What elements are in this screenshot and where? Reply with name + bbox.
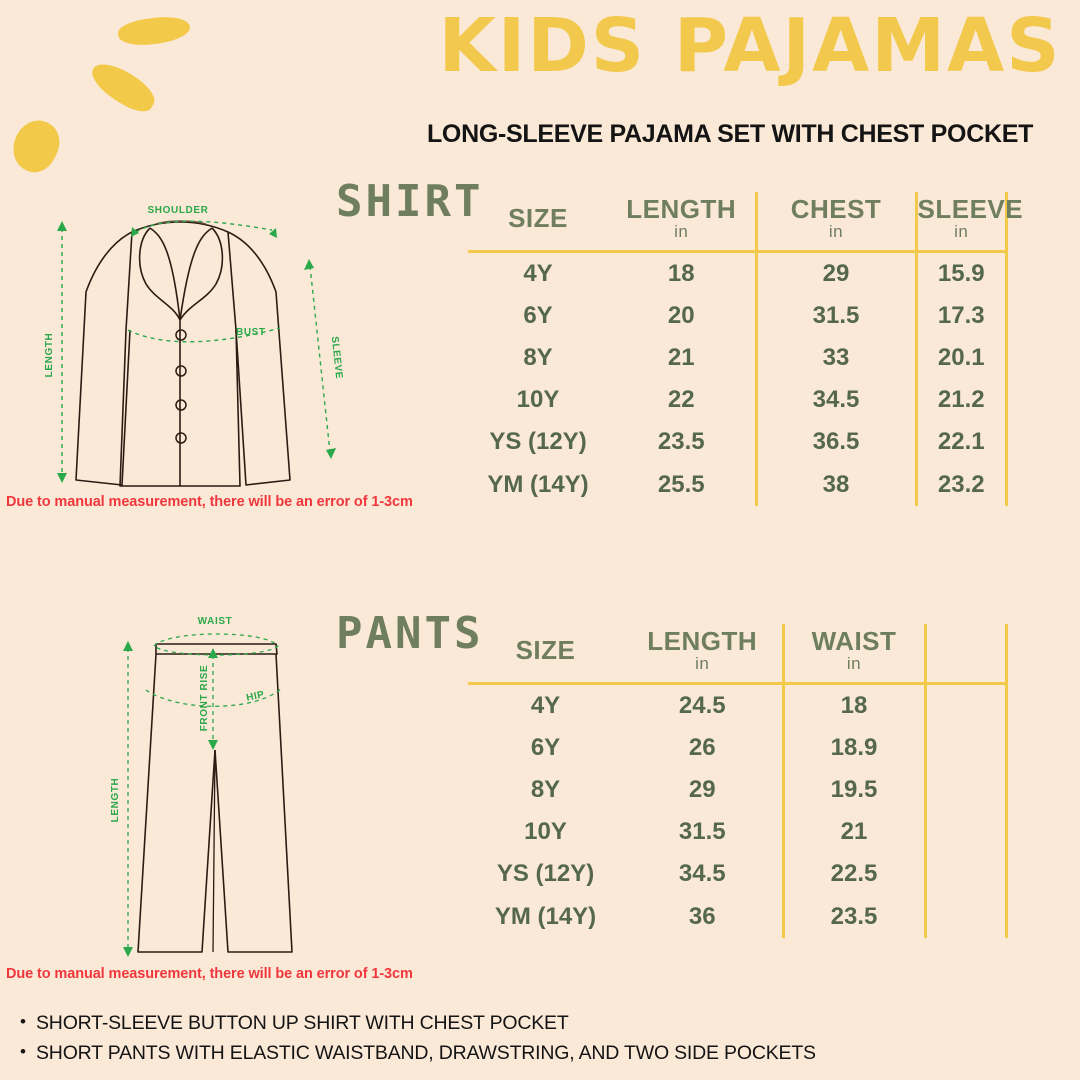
table-cell: 8Y — [468, 769, 623, 811]
table-cell: 21 — [783, 811, 925, 853]
bullet-dot-icon: • — [20, 1042, 36, 1062]
pants-label-length: LENGTH — [110, 778, 121, 823]
table-cell: 31.5 — [756, 295, 916, 337]
column-header-chest-name: CHEST — [758, 196, 915, 223]
table-header-row: SIZE LENGTH in CHEST in SLEEVE in — [468, 192, 1007, 252]
pants-diagram: WAIST HIP FRONT RISE LENGTH — [60, 600, 360, 975]
decorative-blob-icon — [4, 113, 67, 180]
table-cell: YM (14Y) — [468, 464, 608, 506]
table-cell: 20 — [608, 295, 756, 337]
table-cell: 24.5 — [623, 684, 783, 728]
pants-size-table: SIZE LENGTH in WAIST in — [468, 624, 1008, 938]
column-header-waist: WAIST in — [783, 624, 925, 684]
table-cell: 17.3 — [916, 295, 1007, 337]
table-cell: 33 — [756, 337, 916, 379]
shirt-label-bust: BUST — [236, 327, 266, 338]
table-cell: YS (12Y) — [468, 421, 608, 463]
table-cell: 8Y — [468, 337, 608, 379]
list-item: •SHORT PANTS WITH ELASTIC WAISTBAND, DRA… — [20, 1042, 1060, 1065]
column-header-empty-unit — [927, 651, 1006, 660]
table-cell: 20.1 — [916, 337, 1007, 379]
table-cell: 4Y — [468, 684, 623, 728]
shirt-label-sleeve: SLEEVE — [329, 336, 344, 380]
column-header-size-name: SIZE — [468, 637, 623, 664]
pants-label-waist: WAIST — [198, 616, 233, 627]
column-header-size: SIZE — [468, 192, 608, 252]
pants-disclaimer: Due to manual measurement, there will be… — [6, 966, 413, 982]
column-header-chest: CHEST in — [756, 192, 916, 252]
table-cell — [925, 684, 1007, 728]
features-list: •SHORT-SLEEVE BUTTON UP SHIRT WITH CHEST… — [20, 1012, 1060, 1073]
table-header-row: SIZE LENGTH in WAIST in — [468, 624, 1007, 684]
table-cell: 34.5 — [623, 853, 783, 895]
table-row: 8Y2919.5 — [468, 769, 1007, 811]
column-header-chest-unit: in — [758, 223, 915, 250]
table-cell: 29 — [623, 769, 783, 811]
table-cell: 31.5 — [623, 811, 783, 853]
table-row: YM (14Y)3623.5 — [468, 896, 1007, 938]
table-cell: YS (12Y) — [468, 853, 623, 895]
table-cell: 19.5 — [783, 769, 925, 811]
feature-text: SHORT-SLEEVE BUTTON UP SHIRT WITH CHEST … — [36, 1012, 569, 1035]
column-header-waist-name: WAIST — [785, 628, 924, 655]
table-cell — [925, 727, 1007, 769]
table-row: 10Y2234.521.2 — [468, 379, 1007, 421]
table-cell — [925, 769, 1007, 811]
decorative-blob-icon — [117, 13, 192, 49]
column-header-size-unit — [468, 664, 623, 673]
column-header-waist-unit: in — [785, 655, 924, 682]
table-cell: 29 — [756, 252, 916, 296]
table-cell: 25.5 — [608, 464, 756, 506]
column-header-sleeve-name: SLEEVE — [918, 196, 1006, 223]
table-cell: 23.2 — [916, 464, 1007, 506]
table-row: YS (12Y)23.536.522.1 — [468, 421, 1007, 463]
pants-section-label: PANTS — [336, 608, 483, 659]
pants-label-front-rise: FRONT RISE — [199, 665, 210, 732]
feature-text: SHORT PANTS WITH ELASTIC WAISTBAND, DRAW… — [36, 1042, 816, 1065]
shirt-buttons — [176, 330, 186, 443]
table-cell: 21 — [608, 337, 756, 379]
column-header-size-name: SIZE — [468, 205, 608, 232]
column-header-sleeve: SLEEVE in — [916, 192, 1007, 252]
table-cell: 18 — [783, 684, 925, 728]
table-cell: 21.2 — [916, 379, 1007, 421]
list-item: •SHORT-SLEEVE BUTTON UP SHIRT WITH CHEST… — [20, 1012, 1060, 1035]
column-header-size-unit — [468, 232, 608, 241]
column-header-size: SIZE — [468, 624, 623, 684]
table-row: 10Y31.521 — [468, 811, 1007, 853]
shirt-disclaimer: Due to manual measurement, there will be… — [6, 494, 413, 510]
table-row: 6Y2618.9 — [468, 727, 1007, 769]
table-cell: 36.5 — [756, 421, 916, 463]
page-title: KIDS PAJAMAS — [430, 8, 1070, 86]
table-cell: 18 — [608, 252, 756, 296]
table-cell: YM (14Y) — [468, 896, 623, 938]
column-header-sleeve-unit: in — [918, 223, 1006, 250]
table-cell: 23.5 — [783, 896, 925, 938]
table-cell: 26 — [623, 727, 783, 769]
table-cell — [925, 853, 1007, 895]
table-cell: 10Y — [468, 811, 623, 853]
table-cell: 38 — [756, 464, 916, 506]
column-header-length: LENGTH in — [623, 624, 783, 684]
table-cell: 10Y — [468, 379, 608, 421]
table-row: 4Y182915.9 — [468, 252, 1007, 296]
table-cell: 6Y — [468, 295, 608, 337]
shirt-section-label: SHIRT — [336, 176, 483, 227]
table-cell: 15.9 — [916, 252, 1007, 296]
shirt-label-shoulder: SHOULDER — [148, 205, 209, 216]
decorative-blob-icon — [85, 56, 160, 119]
table-cell: 22.1 — [916, 421, 1007, 463]
column-header-length-name: LENGTH — [608, 196, 755, 223]
column-header-length-unit: in — [608, 223, 755, 250]
shirt-diagram: BUST SHOULDER LENGTH SLEEVE — [0, 180, 360, 500]
table-cell — [925, 896, 1007, 938]
table-row: 6Y2031.517.3 — [468, 295, 1007, 337]
table-cell: 34.5 — [756, 379, 916, 421]
table-cell: 4Y — [468, 252, 608, 296]
column-header-empty — [925, 624, 1007, 684]
shirt-label-length: LENGTH — [44, 333, 55, 378]
table-cell — [925, 811, 1007, 853]
table-cell: 6Y — [468, 727, 623, 769]
column-header-length: LENGTH in — [608, 192, 756, 252]
table-row: 8Y213320.1 — [468, 337, 1007, 379]
table-row: YS (12Y)34.522.5 — [468, 853, 1007, 895]
table-cell: 18.9 — [783, 727, 925, 769]
table-row: 4Y24.518 — [468, 684, 1007, 728]
table-cell: 23.5 — [608, 421, 756, 463]
table-row: YM (14Y)25.53823.2 — [468, 464, 1007, 506]
shirt-size-table: SIZE LENGTH in CHEST in SLEEVE in — [468, 192, 1008, 506]
page-subtitle: LONG-SLEEVE PAJAMA SET WITH CHEST POCKET — [400, 120, 1060, 149]
column-header-length-unit: in — [623, 655, 782, 682]
size-chart-page: KIDS PAJAMAS LONG-SLEEVE PAJAMA SET WITH… — [0, 0, 1080, 1080]
table-cell: 22 — [608, 379, 756, 421]
table-cell: 36 — [623, 896, 783, 938]
table-cell: 22.5 — [783, 853, 925, 895]
bullet-dot-icon: • — [20, 1012, 36, 1032]
pants-label-hip: HIP — [245, 689, 265, 704]
column-header-length-name: LENGTH — [623, 628, 782, 655]
